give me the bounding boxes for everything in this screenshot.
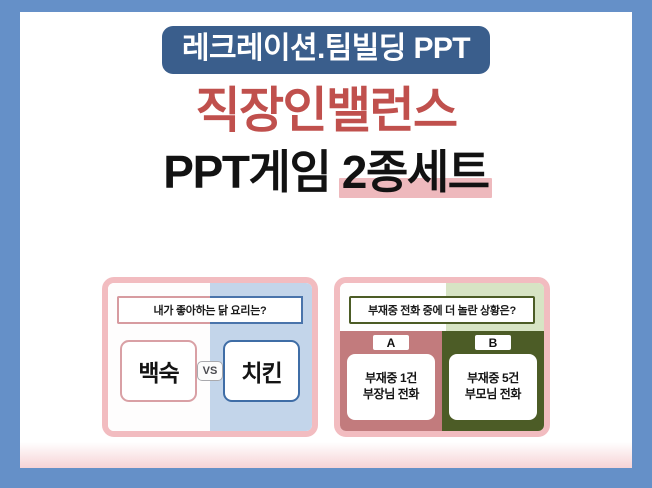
choice-panel-a: A 부재중 1건 부장님 전화 — [340, 331, 442, 431]
choice-letter-a: A — [373, 335, 409, 350]
vs-badge: VS — [197, 361, 223, 381]
category-badge: 레크레이션.팀빌딩 PPT — [162, 26, 490, 74]
title-primary: 직장인밸런스 — [20, 84, 632, 140]
choice-panels: A 부재중 1건 부장님 전화 B 부재중 5건 부모님 전화 — [340, 331, 544, 431]
choice-answer-a-line1: 부재중 1건 — [365, 371, 417, 387]
balance-card-missed-call: 부재중 전화 중에 더 놀란 상황은? A 부재중 1건 부장님 전화 B — [334, 277, 550, 437]
choice-answer-a: 부재중 1건 부장님 전화 — [347, 354, 435, 420]
option-box-a: 백숙 — [120, 340, 197, 402]
choice-answer-b: 부재중 5건 부모님 전화 — [449, 354, 537, 420]
choice-answer-b-line1: 부재중 5건 — [467, 371, 519, 387]
option-box-b: 치킨 — [223, 340, 300, 402]
choice-panel-b: B 부재중 5건 부모님 전화 — [442, 331, 544, 431]
headline-group: 레크레이션.팀빌딩 PPT 직장인밸런스 PPT게임 2종세트 — [20, 26, 632, 199]
choice-answer-b-line2: 부모님 전화 — [465, 387, 521, 403]
poster-canvas: 레크레이션.팀빌딩 PPT 직장인밸런스 PPT게임 2종세트 내가 좋아하는 … — [20, 12, 632, 468]
title-secondary-plain: PPT게임 — [163, 146, 341, 198]
question-bar: 부재중 전화 중에 더 놀란 상황은? — [349, 296, 535, 324]
choice-letter-b: B — [475, 335, 511, 350]
bottom-pink-glow — [20, 442, 632, 468]
card-content: 내가 좋아하는 닭 요리는? 백숙 VS 치킨 — [108, 283, 312, 431]
poster-thumbnail: 레크레이션.팀빌딩 PPT 직장인밸런스 PPT게임 2종세트 내가 좋아하는 … — [0, 0, 652, 488]
balance-card-chicken: 내가 좋아하는 닭 요리는? 백숙 VS 치킨 — [102, 277, 318, 437]
title-secondary: PPT게임 2종세트 — [20, 146, 632, 198]
options-row: 백숙 VS 치킨 — [117, 324, 303, 422]
question-bar: 내가 좋아하는 닭 요리는? — [117, 296, 303, 324]
sample-cards-row: 내가 좋아하는 닭 요리는? 백숙 VS 치킨 부재중 전화 중에 더 놀란 상… — [100, 277, 552, 437]
card-content: 부재중 전화 중에 더 놀란 상황은? A 부재중 1건 부장님 전화 B — [340, 283, 544, 431]
title-secondary-highlighted: 2종세트 — [342, 146, 489, 198]
choice-answer-a-line2: 부장님 전화 — [363, 387, 419, 403]
